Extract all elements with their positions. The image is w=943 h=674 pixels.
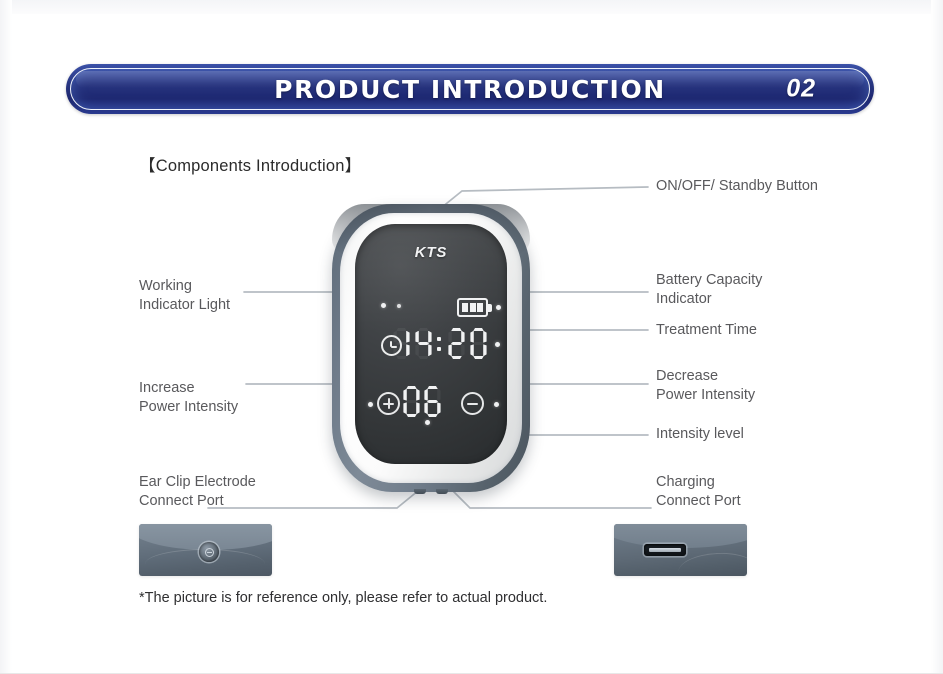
seven-segment-digit — [415, 328, 432, 359]
section-number: 02 — [786, 75, 816, 104]
callout-line: Charging — [656, 473, 741, 492]
intensity-leader-dot — [425, 420, 430, 425]
seven-segment-digit — [448, 328, 465, 359]
callout-line: Treatment Time — [656, 321, 757, 340]
battery-bar — [477, 303, 483, 312]
callout-intensity-level: Intensity level — [656, 425, 744, 444]
ear-clip-port-photo — [139, 524, 272, 576]
battery-bar — [470, 303, 476, 312]
callout-charging-connect-port: Charging Connect Port — [656, 473, 741, 511]
brand-logo: KTS — [355, 244, 507, 261]
callout-working-indicator-light: Working Indicator Light — [139, 277, 230, 315]
page-root: PRODUCT INTRODUCTION 02 【Components Intr… — [0, 0, 943, 674]
callout-line: Working — [139, 277, 230, 296]
time-colon — [437, 328, 443, 359]
page-top-band — [0, 0, 943, 14]
working-indicator-dot — [397, 304, 401, 308]
charging-port-nub — [436, 489, 448, 494]
callout-line: Intensity level — [656, 425, 744, 444]
increase-leader-dot — [368, 402, 373, 407]
callout-ear-clip-electrode-connect-port: Ear Clip Electrode Connect Port — [139, 473, 256, 511]
callout-treatment-time: Treatment Time — [656, 321, 757, 340]
device-screen: KTS — [355, 224, 507, 464]
page-right-band — [931, 0, 943, 674]
battery-body — [457, 298, 488, 317]
page-title: PRODUCT INTRODUCTION — [274, 75, 666, 104]
seven-segment-digit — [393, 328, 410, 359]
battery-icon — [457, 298, 493, 317]
battery-terminal — [488, 304, 492, 312]
callout-on-off-standby-button: ON/OFF/ Standby Button — [656, 177, 818, 196]
charging-port-photo — [614, 524, 747, 576]
battery-bar — [462, 303, 468, 312]
callout-line: Indicator — [656, 290, 762, 309]
intensity-level-display — [403, 386, 440, 415]
seven-segment-digit — [424, 386, 440, 415]
callout-line: Decrease — [656, 367, 755, 386]
micro-usb-port-icon — [644, 544, 686, 556]
callout-line: Indicator Light — [139, 296, 230, 315]
circle-plus-icon[interactable] — [377, 392, 400, 415]
section-header-banner: PRODUCT INTRODUCTION 02 — [66, 64, 874, 114]
working-indicator-dot — [381, 303, 386, 308]
photo-seam-line — [678, 551, 747, 572]
ear-clip-electrode-jack-icon — [199, 542, 219, 562]
battery-leader-dot — [496, 305, 501, 310]
device-illustration: KTS — [332, 204, 530, 492]
disclaimer-footnote: *The picture is for reference only, plea… — [139, 590, 547, 606]
callout-battery-capacity-indicator: Battery Capacity Indicator — [656, 271, 762, 309]
treatment-time-leader-dot — [495, 342, 500, 347]
decrease-leader-dot — [494, 402, 499, 407]
callout-line: Power Intensity — [139, 398, 238, 417]
callout-line: Increase — [139, 379, 238, 398]
callout-line: Connect Port — [139, 492, 256, 511]
callout-line: Connect Port — [656, 492, 741, 511]
screen-gloss — [355, 224, 507, 334]
callout-line: ON/OFF/ Standby Button — [656, 177, 818, 196]
callout-line: Ear Clip Electrode — [139, 473, 256, 492]
seven-segment-digit — [403, 386, 419, 415]
components-introduction-heading: 【Components Introduction】 — [139, 152, 361, 176]
callout-decrease-power-intensity: Decrease Power Intensity — [656, 367, 755, 405]
callout-increase-power-intensity: Increase Power Intensity — [139, 379, 238, 417]
callout-line: Battery Capacity — [656, 271, 762, 290]
circle-minus-icon[interactable] — [461, 392, 484, 415]
page-left-band — [0, 0, 12, 674]
callout-line: Power Intensity — [656, 386, 755, 405]
ear-clip-port-nub — [414, 489, 426, 494]
seven-segment-digit — [470, 328, 487, 359]
treatment-time-display — [393, 328, 487, 359]
